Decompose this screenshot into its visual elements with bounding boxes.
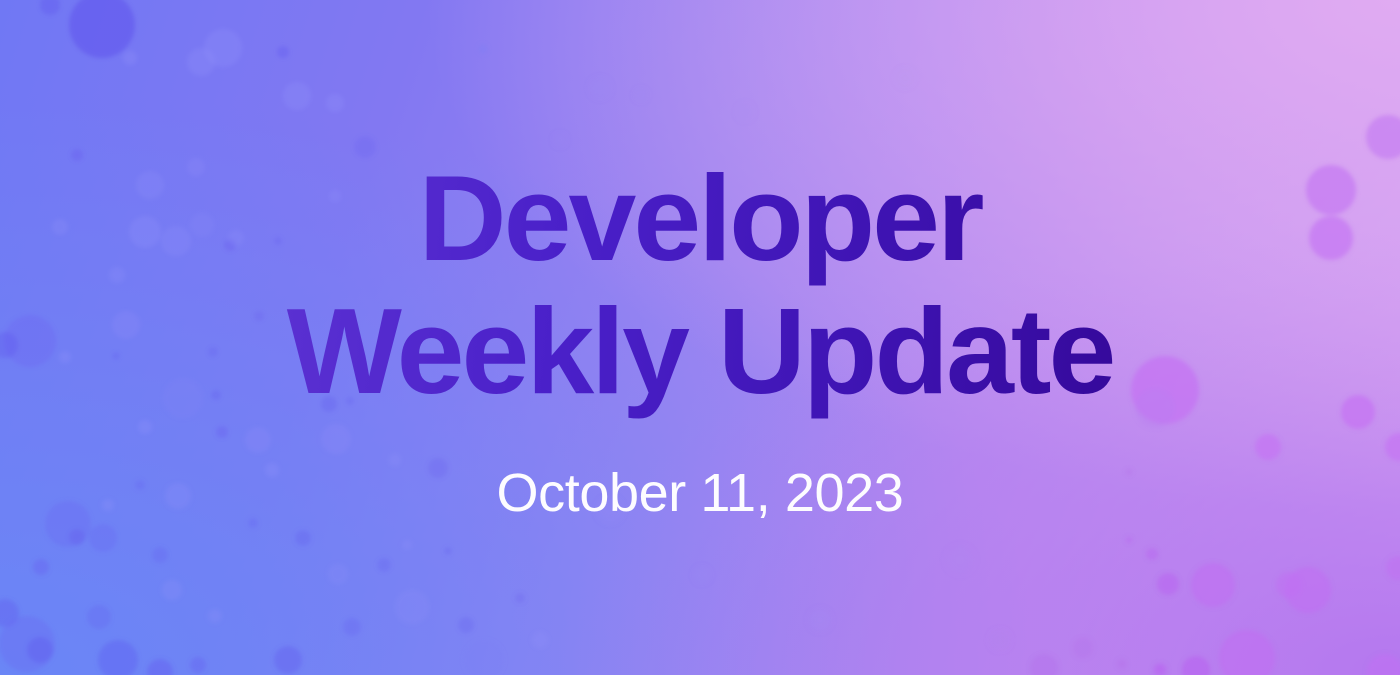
weekly-update-banner: Developer Weekly Update October 11, 2023: [0, 0, 1400, 675]
page-title: Developer Weekly Update: [281, 152, 1120, 428]
banner-content: Developer Weekly Update October 11, 2023: [0, 0, 1400, 675]
issue-date: October 11, 2023: [497, 464, 904, 523]
page-title-line-1: Developer: [287, 152, 1114, 285]
page-title-line-2: Weekly Update: [287, 285, 1114, 418]
